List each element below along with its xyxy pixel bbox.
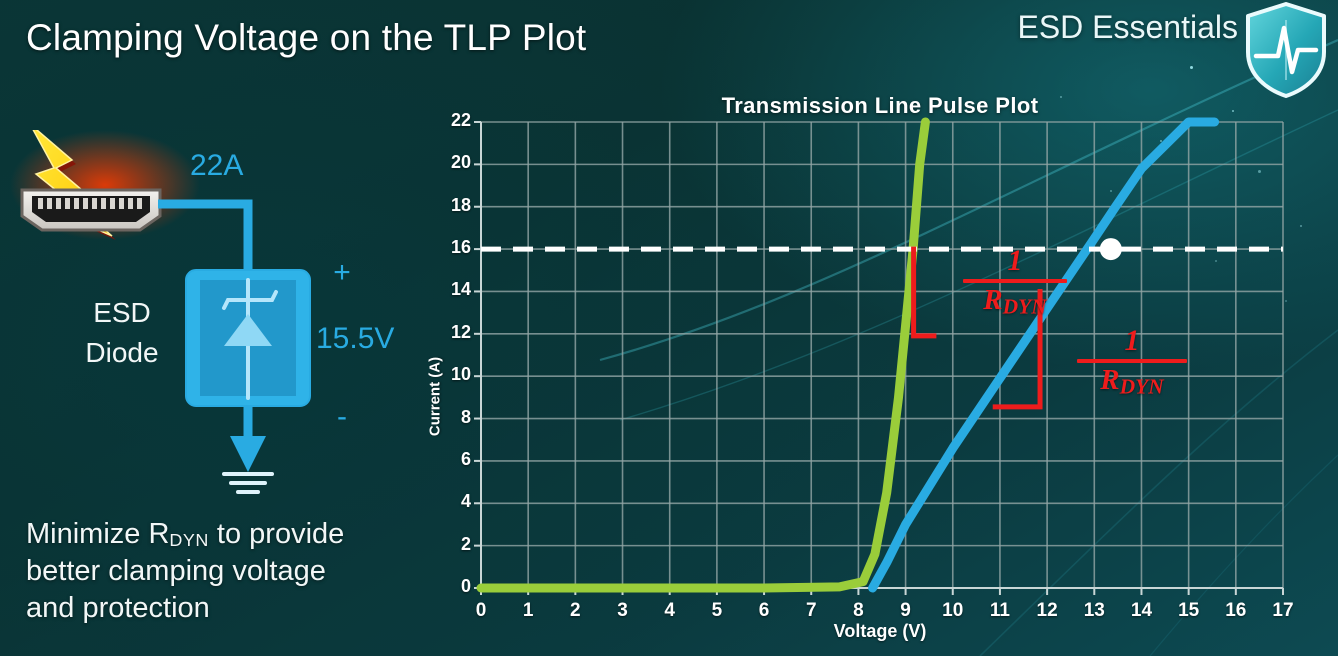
caption-line2: better clamping voltage xyxy=(26,555,326,587)
clamp-voltage-label: 15.5V xyxy=(316,322,394,355)
slope-bracket xyxy=(914,249,934,336)
ground-symbol-icon xyxy=(224,474,272,492)
fraction-denominator: RDYN xyxy=(963,285,1067,318)
fraction-bar xyxy=(963,279,1067,283)
device-label-line2: Diode xyxy=(85,337,158,368)
caption-line3: and protection xyxy=(26,592,210,624)
device-label-line1: ESD xyxy=(93,297,151,328)
polarity-plus: + xyxy=(333,256,351,289)
hdmi-connector-icon xyxy=(22,190,160,230)
shield-heartbeat-icon xyxy=(1240,0,1332,100)
esd-protection-circuit-diagram: 22A ESD Diode 15.5V + - xyxy=(0,130,420,510)
polarity-minus: - xyxy=(337,400,347,433)
operating-point-dot xyxy=(1100,238,1122,260)
caption-line1: Minimize RDYN to provide xyxy=(26,518,344,550)
fraction-denominator: RDYN xyxy=(1077,365,1187,398)
fraction-bar xyxy=(1077,359,1187,363)
brand-label: ESD Essentials xyxy=(1017,9,1238,46)
chart-plot-area xyxy=(405,88,1338,656)
page-title: Clamping Voltage on the TLP Plot xyxy=(26,17,586,59)
slope-annotation-1: 1 RDYN xyxy=(963,246,1067,318)
summary-caption: Minimize RDYN to provide better clamping… xyxy=(26,516,446,627)
current-arrow xyxy=(230,436,266,472)
tlp-chart: Transmission Line Pulse Plot Current (A)… xyxy=(405,88,1338,656)
slope-annotation-2: 1 RDYN xyxy=(1077,326,1187,398)
slide-canvas: Clamping Voltage on the TLP Plot ESD Ess… xyxy=(0,0,1338,656)
current-label: 22A xyxy=(190,149,243,182)
